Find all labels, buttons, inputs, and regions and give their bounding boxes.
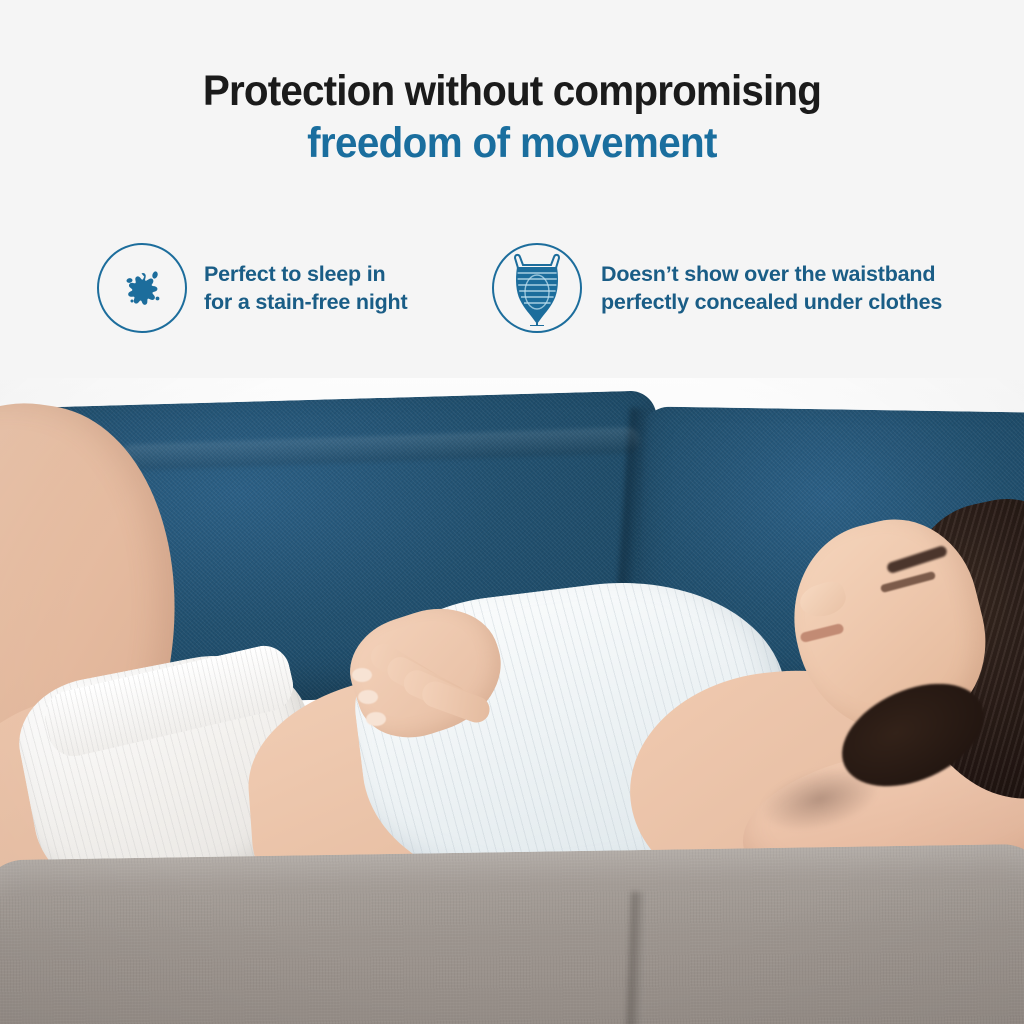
lifestyle-photo (0, 372, 1024, 1024)
feature-item-concealed: Doesn’t show over the waistband perfectl… (492, 243, 942, 333)
feature-list: Perfect to sleep in for a stain-free nig… (0, 243, 1024, 343)
headline-primary: Protection without compromising (31, 66, 994, 116)
headline-block: Protection without compromising freedom … (0, 66, 1024, 170)
model-fingernail (358, 690, 378, 704)
feature-text-sleep: Perfect to sleep in for a stain-free nig… (204, 260, 407, 316)
model-fingernail (352, 668, 372, 682)
top-info-panel: Protection without compromising freedom … (0, 0, 1024, 378)
model-fingernail (366, 712, 386, 726)
product-feature-banner: Protection without compromising freedom … (0, 0, 1024, 1024)
sofa-seat-cushion (0, 844, 1024, 1024)
feature-line-2: for a stain-free night (204, 288, 407, 316)
underwear-icon (492, 243, 582, 333)
feature-line-1: Doesn’t show over the waistband (601, 260, 942, 288)
headline-secondary: freedom of movement (31, 116, 994, 170)
feature-line-1: Perfect to sleep in (204, 260, 407, 288)
feature-item-sleep: Perfect to sleep in for a stain-free nig… (97, 243, 407, 333)
feature-text-concealed: Doesn’t show over the waistband perfectl… (601, 260, 942, 316)
splash-icon (97, 243, 187, 333)
feature-line-2: perfectly concealed under clothes (601, 288, 942, 316)
